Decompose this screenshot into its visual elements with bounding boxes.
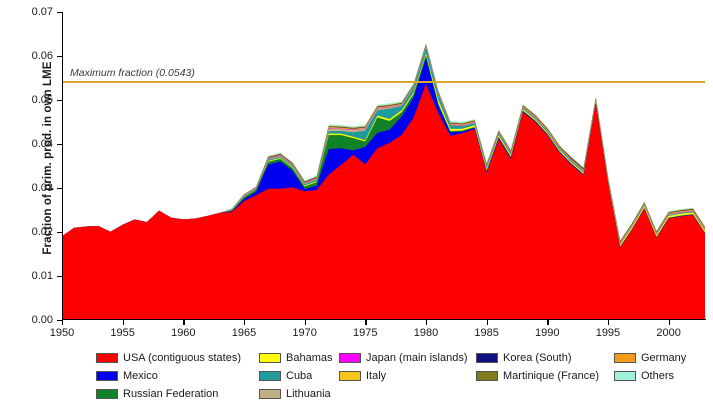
legend-item-label: Korea (South) — [503, 352, 571, 364]
y-axis-tick: 0.05 — [57, 100, 62, 101]
y-axis-tick-label: 0.01 — [32, 270, 53, 282]
y-axis-tick-label: 0.07 — [32, 6, 53, 18]
stacked-area-series-group — [62, 12, 705, 320]
legend-item-label: Mexico — [123, 370, 158, 382]
plot-area: Maximum fraction (0.0543) 0.000.010.020.… — [62, 12, 705, 320]
x-axis-line — [62, 319, 706, 320]
y-axis-tick-label: 0.03 — [32, 182, 53, 194]
x-axis-tick — [62, 320, 63, 325]
legend-swatch-icon — [259, 371, 281, 381]
legend-swatch-icon — [339, 371, 361, 381]
legend-item-label: Martinique (France) — [503, 370, 599, 382]
legend-swatch-icon — [476, 371, 498, 381]
x-axis-tick-label: 1950 — [50, 327, 74, 339]
legend-item-label: USA (contiguous states) — [123, 352, 241, 364]
legend-item-cuba[interactable]: Cuba — [259, 367, 332, 385]
x-axis-tick — [244, 320, 245, 325]
legend-swatch-icon — [96, 389, 118, 399]
x-axis-tick — [547, 320, 548, 325]
legend-swatch-icon — [96, 353, 118, 363]
x-axis-tick — [487, 320, 488, 325]
maximum-fraction-line — [62, 81, 705, 83]
x-axis-tick-label: 1980 — [414, 327, 438, 339]
y-axis-tick-label: 0.00 — [32, 314, 53, 326]
legend-column: USA (contiguous states)MexicoRussian Fed… — [96, 349, 241, 403]
x-axis-tick-label: 2000 — [656, 327, 680, 339]
y-axis-tick-label: 0.06 — [32, 50, 53, 62]
legend-item-label: Lithuania — [286, 388, 331, 400]
legend-item-label: Bahamas — [286, 352, 332, 364]
x-axis-tick-label: 1990 — [535, 327, 559, 339]
y-axis-tick: 0.01 — [57, 276, 62, 277]
y-axis-tick-label: 0.05 — [32, 94, 53, 106]
legend-item-label: Others — [641, 370, 674, 382]
chart-legend: USA (contiguous states)MexicoRussian Fed… — [96, 349, 708, 405]
legend-item-martinique-france[interactable]: Martinique (France) — [476, 367, 599, 385]
x-axis-tick-label: 1965 — [232, 327, 256, 339]
legend-swatch-icon — [259, 389, 281, 399]
legend-item-label: Italy — [366, 370, 386, 382]
x-axis-tick — [426, 320, 427, 325]
y-axis-tick: 0.07 — [57, 12, 62, 13]
legend-item-label: Japan (main islands) — [366, 352, 468, 364]
y-axis-tick: 0.04 — [57, 144, 62, 145]
legend-item-italy[interactable]: Italy — [339, 367, 468, 385]
legend-column: Korea (South)Martinique (France) — [476, 349, 599, 385]
x-axis-tick-label: 1970 — [292, 327, 316, 339]
y-axis-tick-label: 0.02 — [32, 226, 53, 238]
x-axis-tick-label: 1995 — [596, 327, 620, 339]
legend-item-russian-federation[interactable]: Russian Federation — [96, 385, 241, 403]
legend-item-others[interactable]: Others — [614, 367, 686, 385]
legend-column: Japan (main islands)Italy — [339, 349, 468, 385]
x-axis-tick — [669, 320, 670, 325]
legend-item-mexico[interactable]: Mexico — [96, 367, 241, 385]
legend-item-germany[interactable]: Germany — [614, 349, 686, 367]
x-axis-tick-label: 1985 — [474, 327, 498, 339]
y-axis-tick: 0.06 — [57, 56, 62, 57]
legend-swatch-icon — [96, 371, 118, 381]
x-axis-tick-label: 1975 — [353, 327, 377, 339]
stacked-area-chart-figure: Fraction of prim. prod. in own LME Maxim… — [0, 0, 713, 409]
legend-item-bahamas[interactable]: Bahamas — [259, 349, 332, 367]
legend-swatch-icon — [614, 371, 636, 381]
legend-item-lithuania[interactable]: Lithuania — [259, 385, 332, 403]
x-axis-tick — [365, 320, 366, 325]
legend-item-label: Russian Federation — [123, 388, 218, 400]
x-axis-tick — [123, 320, 124, 325]
legend-column: BahamasCubaLithuania — [259, 349, 332, 403]
legend-swatch-icon — [339, 353, 361, 363]
y-axis-line — [62, 12, 63, 320]
legend-item-label: Cuba — [286, 370, 312, 382]
y-axis-tick: 0.03 — [57, 188, 62, 189]
legend-swatch-icon — [614, 353, 636, 363]
maximum-fraction-label: Maximum fraction (0.0543) — [70, 67, 195, 79]
legend-item-korea-south[interactable]: Korea (South) — [476, 349, 599, 367]
legend-swatch-icon — [259, 353, 281, 363]
legend-item-label: Germany — [641, 352, 686, 364]
legend-item-japan-main-islands[interactable]: Japan (main islands) — [339, 349, 468, 367]
legend-item-usa-contiguous-states[interactable]: USA (contiguous states) — [96, 349, 241, 367]
y-axis-tick: 0.02 — [57, 232, 62, 233]
x-axis-tick-label: 1960 — [171, 327, 195, 339]
x-axis-tick — [608, 320, 609, 325]
legend-swatch-icon — [476, 353, 498, 363]
y-axis-tick-label: 0.04 — [32, 138, 53, 150]
x-axis-tick — [305, 320, 306, 325]
legend-column: GermanyOthers — [614, 349, 686, 385]
x-axis-tick-label: 1955 — [110, 327, 134, 339]
x-axis-tick — [183, 320, 184, 325]
